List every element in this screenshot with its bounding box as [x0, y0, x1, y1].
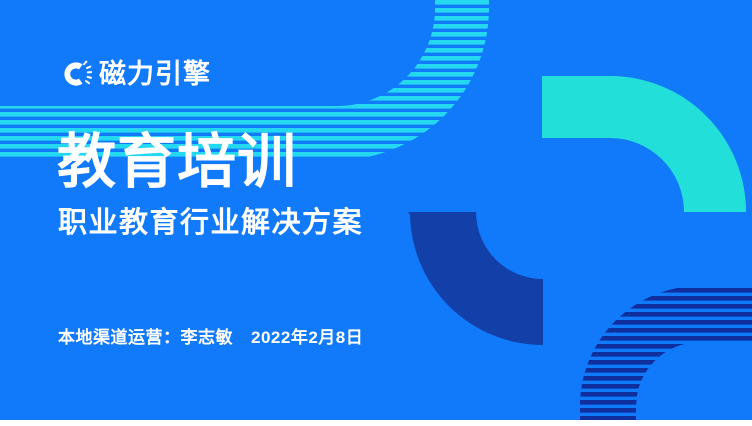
- title-slide: 磁力引擎 教育培训 职业教育行业解决方案 本地渠道运营：李志敏2022年2月8日: [0, 0, 752, 420]
- solid-cyan-arc: [542, 76, 746, 212]
- magnet-c-ring-icon: [58, 57, 92, 91]
- page-subtitle: 职业教育行业解决方案: [58, 208, 363, 240]
- page-title: 教育培训: [57, 132, 363, 194]
- solid-darkblue-arc: [408, 212, 543, 345]
- striped-darkblue-arc: [580, 286, 752, 420]
- bottom-white-strip: [0, 420, 752, 426]
- brand-name: 磁力引擎: [99, 61, 211, 88]
- brand-logo: 磁力引擎: [58, 57, 211, 91]
- footer-meta: 本地渠道运营：李志敏2022年2月8日: [58, 323, 363, 348]
- presentation-date: 2022年2月8日: [251, 328, 363, 347]
- presenter-label: 本地渠道运营：李志敏: [58, 328, 233, 347]
- headline-block: 教育培训 职业教育行业解决方案: [57, 132, 363, 240]
